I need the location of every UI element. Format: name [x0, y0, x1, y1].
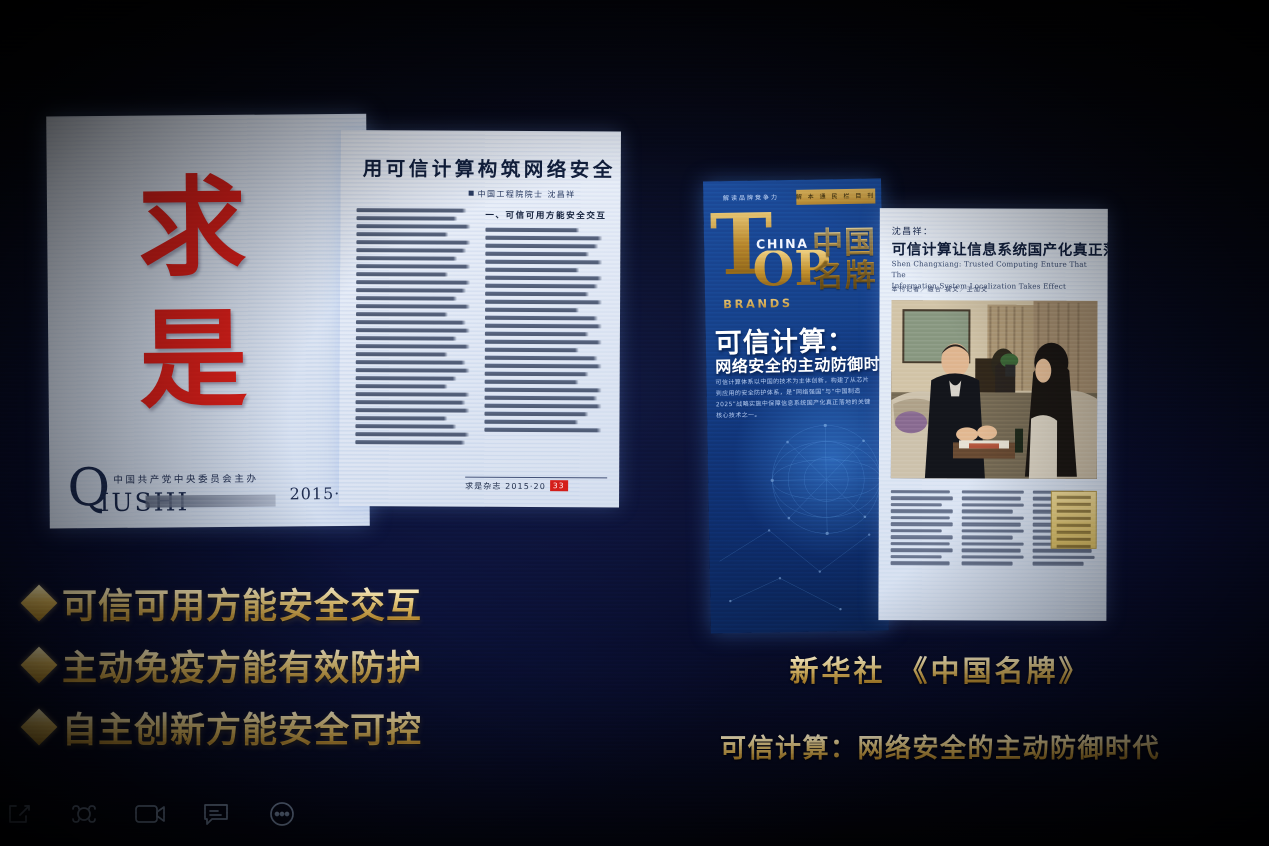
qiushi-masthead-bar — [146, 495, 276, 508]
bullet-text-3: 自主创新方能安全可控 — [62, 702, 422, 753]
participants-icon[interactable] — [64, 794, 104, 834]
article-column-left — [355, 208, 474, 467]
video-camera-icon[interactable] — [130, 794, 170, 834]
china-top-brands-cover: 解读品牌竞争力 解 本 通 民 栏 目 刊 T CHINA OP BRANDS … — [703, 178, 889, 633]
caption-block: 新华社 《中国名牌》 可信计算：网络安全的主动防御时代 — [660, 648, 1220, 765]
share-screen-icon[interactable] — [0, 794, 38, 834]
qiushi-article-page: 用可信计算构筑网络安全 中国工程院院士 沈昌祥 一、可信可用方能安全交互 — [339, 130, 621, 507]
bullet-list: 可信可用方能安全交互 主动免疫方能有效防护 自主创新方能安全可控 — [26, 572, 546, 758]
interview-column-2 — [961, 490, 1025, 590]
bullet-text-1: 可信可用方能安全交互 — [62, 578, 422, 629]
diamond-bullet-icon — [21, 647, 58, 684]
interview-kicker: 沈昌祥： — [892, 224, 934, 237]
china-top-brands-spread: 解读品牌竞争力 解 本 通 民 栏 目 刊 T CHINA OP BRANDS … — [703, 175, 1111, 644]
article-title: 用可信计算构筑网络安全 — [363, 152, 609, 182]
china-top-brands-logo: T CHINA OP BRANDS 中国名牌 — [707, 204, 883, 317]
interview-english-line1: Shen Changxiang: Trusted Computing Entur… — [892, 259, 1087, 279]
article-byline: 中国工程院院士 沈昌祥 — [469, 189, 609, 201]
article-columns: 一、可信可用方能安全交互 — [355, 208, 606, 467]
qiushi-calligraphy-title: 求是 — [103, 162, 286, 464]
qiushi-sponsor-line: 中国共产党中央委员会主办 — [113, 471, 258, 486]
interview-photograph — [891, 300, 1098, 479]
diamond-bullet-icon — [21, 709, 58, 746]
cover-blurb: 可信计算体系以中国的技术为主体创新，构建了从芯片到应用的安全防护体系，是“网络强… — [715, 375, 872, 422]
interview-credit: 本刊记者／融合 撰文／王加又 — [892, 284, 989, 293]
cover-headline-line2: 网络安全的主动防御时代 — [715, 350, 889, 377]
article-column-right: 一、可信可用方能安全交互 — [484, 209, 607, 468]
article-page-number: 33 — [550, 480, 568, 491]
chat-bubble-icon[interactable] — [196, 794, 236, 834]
byline-square-icon — [469, 191, 474, 196]
projected-slide-photo: 求是 Q IUSHI 中国共产党中央委员会主办 2015·20 用可信计算构筑网… — [0, 0, 1269, 846]
bullet-text-2: 主动免疫方能有效防护 — [62, 640, 422, 691]
logo-chinese-name: 中国名牌 — [812, 226, 883, 292]
bullet-item-2: 主动免疫方能有效防护 — [26, 634, 546, 696]
qiushi-masthead: Q IUSHI 中国共产党中央委员会主办 2015·20 — [67, 466, 357, 515]
logo-brands-text: BRANDS — [723, 296, 793, 311]
article-footer-text: 求是杂志 2015·20 — [465, 482, 546, 491]
interview-column-1 — [890, 490, 954, 590]
bullet-item-3: 自主创新方能安全可控 — [26, 696, 546, 758]
china-top-brands-interview-page: 沈昌祥： 可信计算让信息系统国产化真正落地 Shen Changxiang: T… — [878, 208, 1107, 621]
more-options-icon[interactable] — [262, 794, 302, 834]
interview-pull-quote-box — [1051, 491, 1097, 549]
caption-line-2: 可信计算：网络安全的主动防御时代 — [660, 728, 1220, 765]
qiushi-journal-spread: 求是 Q IUSHI 中国共产党中央委员会主办 2015·20 用可信计算构筑网… — [46, 112, 622, 529]
qiushi-issue-year: 2015· — [289, 484, 340, 503]
article-byline-text: 中国工程院院士 沈昌祥 — [478, 190, 576, 200]
qiushi-cover: 求是 Q IUSHI 中国共产党中央委员会主办 2015·20 — [46, 114, 370, 529]
meeting-toolbar — [0, 786, 302, 842]
article-section-heading: 一、可信可用方能安全交互 — [485, 209, 606, 222]
cover-banner-right: 解 本 通 民 栏 目 刊 — [796, 189, 876, 205]
caption-line-1: 新华社 《中国名牌》 — [660, 648, 1220, 690]
interview-title: 可信计算让信息系统国产化真正落地 — [892, 238, 1104, 260]
interview-photo-graphic — [891, 300, 1098, 479]
bullet-item-1: 可信可用方能安全交互 — [26, 572, 546, 634]
article-footer: 求是杂志 2015·2033 — [465, 477, 607, 491]
diamond-bullet-icon — [21, 585, 58, 622]
